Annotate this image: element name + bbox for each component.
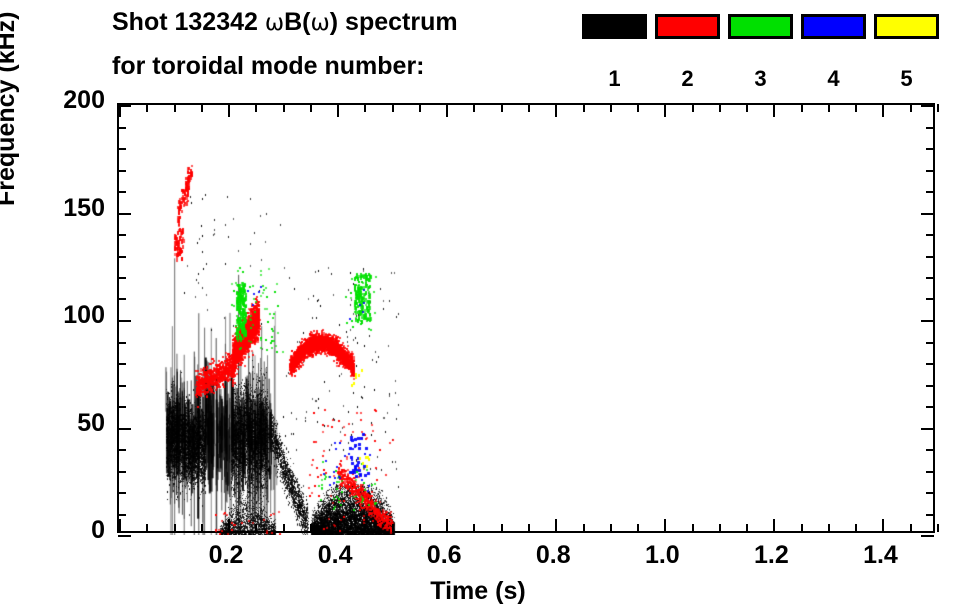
x-tick-top-0.5 [392,104,394,112]
legend-swatch-1[interactable] [582,14,647,39]
x-tick-top-0.55 [419,104,421,112]
y-axis-title: Frequency (kHz) [0,12,21,206]
x-tick-top-0.25 [255,104,257,112]
x-tick-0.35 [310,524,312,532]
y-tick-110 [118,298,126,300]
y-tick-right-90 [926,342,934,344]
y-tick-0 [118,535,131,537]
x-tick-0.9 [610,524,612,532]
y-tick-190 [118,127,126,129]
x-tick-0.2 [228,519,230,532]
y-tick-right-60 [926,406,934,408]
x-tick-0.05 [146,524,148,532]
x-tick-0.75 [528,524,530,532]
y-tick-30 [118,471,126,473]
y-tick-label-100: 100 [5,301,105,330]
y-tick-20 [118,492,126,494]
x-tick-top-1.5 [937,104,939,112]
x-tick-top-1.35 [855,104,857,112]
x-tick-top-1.3 [828,104,830,112]
y-tick-right-10 [926,514,934,516]
x-tick-0.4 [337,519,339,532]
title-shot-text: Shot 132342 [112,8,265,36]
legend-swatch-5[interactable] [874,14,939,39]
x-tick-0.85 [583,524,585,532]
x-tick-top-0.8 [555,104,557,117]
x-tick-0.65 [473,524,475,532]
y-tick-90 [118,342,126,344]
x-tick-0.55 [419,524,421,532]
spectrogram-canvas [119,105,937,535]
legend: 12345 [582,14,942,84]
y-tick-140 [118,234,126,236]
x-tick-0.8 [555,519,557,532]
legend-swatch-4[interactable] [801,14,866,39]
x-tick-0.6 [446,519,448,532]
y-tick-60 [118,406,126,408]
y-tick-label-0: 0 [5,516,105,545]
y-tick-100 [118,320,131,322]
y-tick-170 [118,170,126,172]
x-tick-1.35 [855,524,857,532]
x-tick-label-1.2: 1.2 [726,541,816,570]
x-tick-top-1.45 [910,104,912,112]
x-tick-1.25 [801,524,803,532]
x-tick-label-0.2: 0.2 [181,541,271,570]
x-tick-top-1.2 [773,104,775,117]
y-tick-right-50 [921,428,934,430]
y-tick-80 [118,363,126,365]
y-tick-right-80 [926,363,934,365]
x-tick-label-0.4: 0.4 [290,541,380,570]
x-tick-top-0.65 [473,104,475,112]
x-tick-top-0.9 [610,104,612,112]
omega-symbol-1: ω [265,10,284,36]
x-tick-top-1.05 [692,104,694,112]
title-b-open: B( [284,8,310,36]
y-tick-40 [118,449,126,451]
x-tick-1 [664,519,666,532]
x-tick-top-0.35 [310,104,312,112]
x-tick-1.1 [719,524,721,532]
x-tick-0 [119,519,121,532]
x-tick-top-0.05 [146,104,148,112]
x-tick-label-1.0: 1.0 [617,541,707,570]
legend-swatch-2[interactable] [655,14,720,39]
x-tick-top-0.1 [174,104,176,112]
x-tick-1.3 [828,524,830,532]
x-tick-top-0.2 [228,104,230,117]
x-tick-0.7 [501,524,503,532]
x-tick-top-1.4 [882,104,884,117]
plot-area [117,103,935,533]
x-axis-title: Time (s) [430,577,525,606]
y-tick-right-190 [926,127,934,129]
x-tick-top-0 [119,104,121,117]
y-tick-180 [118,148,126,150]
x-tick-0.1 [174,524,176,532]
x-tick-1.5 [937,524,939,532]
x-tick-0.45 [364,524,366,532]
x-tick-label-1.4: 1.4 [835,541,925,570]
x-tick-0.5 [392,524,394,532]
y-tick-130 [118,256,126,258]
x-tick-top-0.7 [501,104,503,112]
y-tick-right-110 [926,298,934,300]
y-tick-right-0 [921,535,934,537]
y-tick-right-160 [926,191,934,193]
x-tick-top-0.3 [283,104,285,112]
x-tick-0.95 [637,524,639,532]
x-tick-top-0.85 [583,104,585,112]
y-tick-right-130 [926,256,934,258]
x-tick-1.15 [746,524,748,532]
x-tick-top-0.4 [337,104,339,117]
title-spectrum-text: ) spectrum [330,8,458,36]
y-tick-right-30 [926,471,934,473]
y-tick-right-180 [926,148,934,150]
y-tick-right-170 [926,170,934,172]
x-tick-0.15 [201,524,203,532]
y-tick-10 [118,514,126,516]
x-tick-top-1.1 [719,104,721,112]
legend-swatch-3[interactable] [728,14,793,39]
x-tick-top-0.45 [364,104,366,112]
legend-label-2: 2 [655,66,720,92]
y-tick-right-140 [926,234,934,236]
x-tick-top-1.15 [746,104,748,112]
y-tick-150 [118,213,131,215]
y-tick-right-120 [926,277,934,279]
y-tick-160 [118,191,126,193]
legend-label-4: 4 [801,66,866,92]
x-tick-1.4 [882,519,884,532]
x-tick-top-1.25 [801,104,803,112]
x-tick-0.3 [283,524,285,532]
spectrogram-figure: Shot 132342 ωB(ω) spectrum for toroidal … [0,0,963,615]
x-tick-top-1 [664,104,666,117]
x-tick-1.2 [773,519,775,532]
x-tick-label-0.8: 0.8 [508,541,598,570]
x-tick-top-0.15 [201,104,203,112]
x-tick-1.05 [692,524,694,532]
y-tick-right-40 [926,449,934,451]
y-tick-right-20 [926,492,934,494]
figure-title-line2: for toroidal mode number: [112,52,425,81]
y-tick-right-70 [926,385,934,387]
x-tick-top-0.95 [637,104,639,112]
y-tick-right-200 [921,105,934,107]
y-tick-50 [118,428,131,430]
y-tick-120 [118,277,126,279]
x-tick-1.45 [910,524,912,532]
figure-title-line1: Shot 132342 ωB(ω) spectrum [112,8,458,37]
legend-label-5: 5 [874,66,939,92]
x-tick-label-0.6: 0.6 [399,541,489,570]
y-tick-70 [118,385,126,387]
x-tick-0.25 [255,524,257,532]
y-tick-right-100 [921,320,934,322]
legend-label-3: 3 [728,66,793,92]
legend-label-1: 1 [582,66,647,92]
x-tick-top-0.6 [446,104,448,117]
y-tick-label-50: 50 [5,409,105,438]
omega-symbol-2: ω [311,10,330,36]
x-tick-top-0.75 [528,104,530,112]
y-tick-right-150 [921,213,934,215]
